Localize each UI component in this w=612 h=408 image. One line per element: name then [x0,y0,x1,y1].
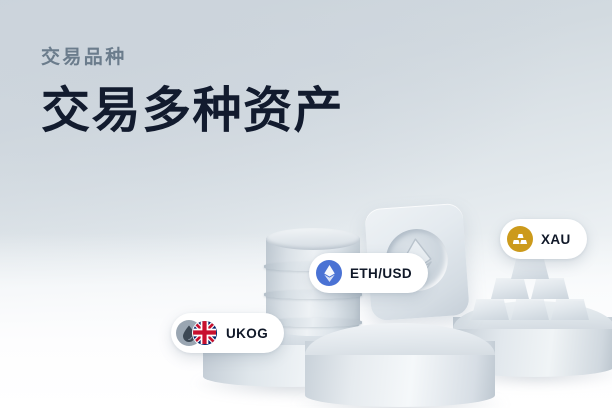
badge-xau[interactable]: XAU [500,219,587,259]
pedestal-center [305,323,495,407]
gold-bars-icon [507,226,533,252]
gold-bar [531,278,569,299]
banner-headline: 交易多种资产 [41,84,461,139]
uk-flag-icon [192,320,218,346]
badge-label: ETH/USD [350,266,412,281]
banner-copy: 交易品种 交易多种资产 [41,47,461,139]
badge-icon-group [176,320,218,346]
gold-bar [551,299,589,320]
gold-bar-stack [471,258,589,320]
badge-eth-usd[interactable]: ETH/USD [309,253,428,293]
gold-bar [491,278,529,299]
gold-bar [511,258,549,279]
gold-bar [511,299,549,320]
badge-label: UKOG [226,326,268,341]
promo-banner: 交易品种 交易多种资产 UKOG [0,0,612,408]
pedestal-top [305,323,495,355]
badge-label: XAU [541,232,571,247]
badge-ukog[interactable]: UKOG [171,313,284,353]
barrel-top [266,228,360,250]
ethereum-icon [316,260,342,286]
banner-eyebrow: 交易品种 [41,47,461,70]
gold-bar [471,299,509,320]
